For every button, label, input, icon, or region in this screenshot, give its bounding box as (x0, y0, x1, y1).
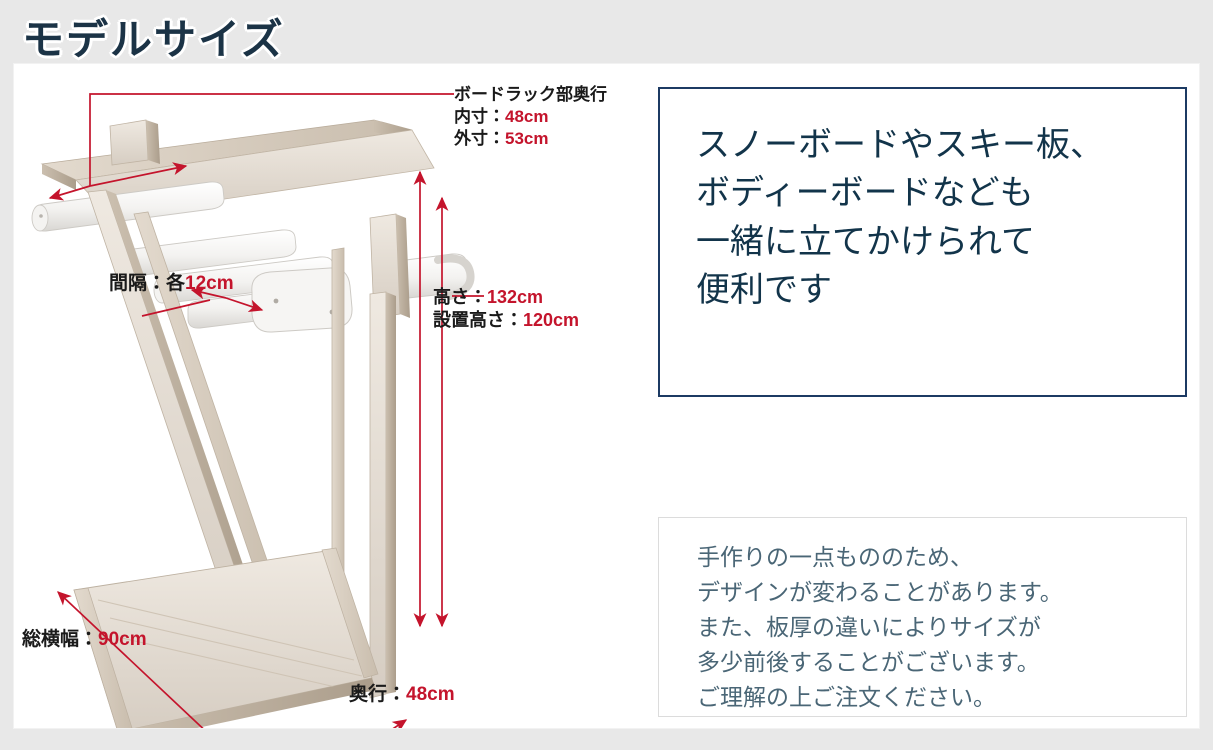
height-total-value: 132cm (487, 287, 543, 307)
height-line2: 設置高さ：120cm (433, 309, 579, 332)
disclaimer-line-4: 多少前後することがございます。 (697, 645, 1063, 680)
annotation-total-width: 総横幅：90cm (22, 628, 147, 652)
annotation-rack-depth: ボードラック部奥行 内寸：48cm 外寸：53cm (454, 84, 607, 149)
total-width-value: 90cm (98, 629, 147, 650)
feature-callout-box: スノーボードやスキー板、 ボディーボードなども 一緒に立てかけられて 便利です (658, 87, 1187, 397)
disclaimer-box: 手作りの一点もののため、 デザインが変わることがあります。 また、板厚の違いによ… (658, 517, 1187, 717)
annotation-height: 高さ：132cm 設置高さ：120cm (433, 286, 579, 332)
annotation-arm-gap: 間隔：各12cm (109, 272, 234, 296)
feature-text: スノーボードやスキー板、 ボディーボードなども 一緒に立てかけられて 便利です (696, 121, 1104, 314)
disclaimer-line-3: また、板厚の違いによりサイズが (697, 610, 1063, 645)
feature-line-1: スノーボードやスキー板、 (696, 121, 1104, 169)
feature-line-3: 一緒に立てかけられて (696, 218, 1104, 266)
rack-depth-line1: ボードラック部奥行 (454, 84, 607, 106)
disclaimer-line-5: ご理解の上ご注文ください。 (697, 680, 1063, 715)
arm-gap-value: 12cm (185, 273, 234, 294)
rack-depth-line2: 内寸：48cm (454, 106, 607, 128)
height-setup-value: 120cm (523, 310, 579, 330)
rack-depth-line3: 外寸：53cm (454, 128, 607, 150)
disclaimer-text: 手作りの一点もののため、 デザインが変わることがあります。 また、板厚の違いによ… (697, 540, 1063, 715)
disclaimer-line-1: 手作りの一点もののため、 (697, 540, 1063, 575)
feature-line-2: ボディーボードなども (696, 169, 1104, 217)
annotation-base-depth: 奥行：48cm (349, 683, 455, 707)
height-line1: 高さ：132cm (433, 286, 579, 309)
content-panel: ボードラック部奥行 内寸：48cm 外寸：53cm 間隔：各12cm 高さ：13… (14, 64, 1199, 728)
rack-depth-inner-value: 48cm (505, 107, 548, 126)
rack-depth-outer-value: 53cm (505, 129, 548, 148)
product-diagram: ボードラック部奥行 内寸：48cm 外寸：53cm 間隔：各12cm 高さ：13… (14, 64, 662, 728)
feature-line-4: 便利です (696, 266, 1104, 314)
model-size-infographic: モデルサイズ (0, 0, 1213, 750)
disclaimer-line-2: デザインが変わることがあります。 (697, 575, 1063, 610)
page-title: モデルサイズ (22, 6, 285, 67)
base-depth-value: 48cm (406, 684, 455, 705)
